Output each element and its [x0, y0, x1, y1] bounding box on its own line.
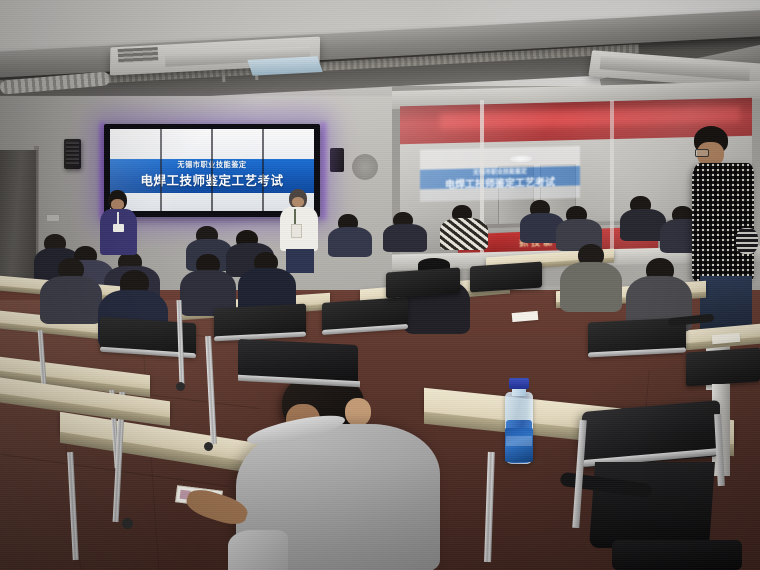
speaker-grille — [66, 142, 79, 166]
wall-speaker-right — [330, 148, 344, 172]
examinee-torso — [383, 224, 427, 252]
glasses-icon — [695, 149, 709, 157]
examinee-torso — [328, 227, 372, 257]
invigilator-trousers — [286, 249, 314, 273]
lanyard-strap — [294, 209, 296, 225]
screen-glare — [110, 129, 314, 211]
chair-backrest[interactable] — [686, 347, 760, 386]
examinee-torso — [560, 262, 622, 312]
bottle-cap[interactable] — [509, 378, 529, 389]
chair-seat — [589, 462, 715, 548]
observer-forearm — [736, 228, 758, 254]
wall-socket — [46, 214, 60, 222]
caster-wheel — [204, 442, 213, 451]
caster-wheel — [122, 518, 133, 529]
examinee-ear-side — [345, 398, 371, 426]
caster-wheel — [176, 382, 185, 391]
bottle-label-highlight — [506, 436, 532, 446]
chair-backrest[interactable] — [386, 267, 460, 298]
examinee-torso-patterned — [440, 218, 488, 250]
invigilator-face — [292, 197, 304, 207]
wall-fan-vent — [352, 154, 378, 180]
tshirt-sleeve — [228, 530, 288, 570]
invigilator-badge — [291, 224, 302, 238]
chair-backrest[interactable] — [470, 261, 542, 292]
observer-checkered-shirt — [692, 163, 754, 281]
photo-scene: 无锡市职业技能鉴定 电焊工技师鉴定工艺考试 抓技能 当能手 无锡市职业技能鉴定 … — [0, 0, 760, 570]
ac-vent-grille — [118, 47, 159, 63]
observer-jeans — [700, 276, 752, 332]
chair-base — [612, 540, 742, 570]
invigilator-badge — [113, 224, 124, 232]
examinee-torso — [40, 276, 102, 324]
